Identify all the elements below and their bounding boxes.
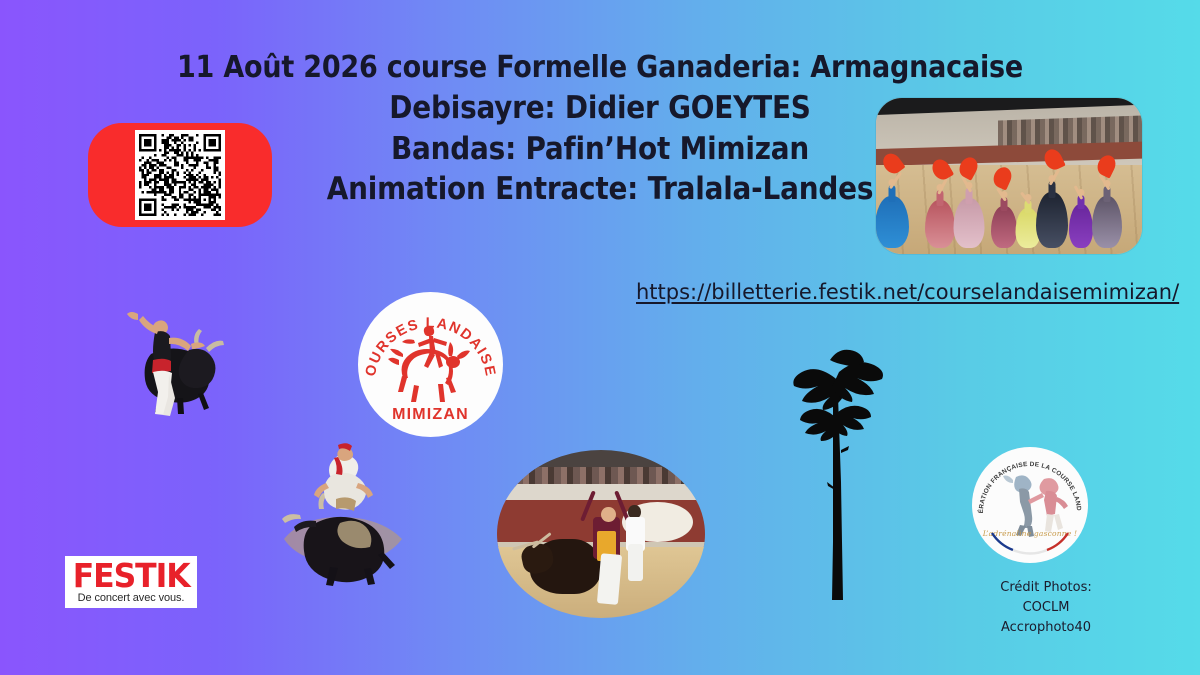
ecarteur-cutout (103, 298, 225, 416)
ecarteur-legs (597, 553, 622, 605)
flamenco-dancers-photo (876, 98, 1142, 254)
festik-logo[interactable]: FESTIK De concert avec vous. (65, 556, 197, 608)
mimizan-bottom-text: MIMIZAN (392, 406, 469, 423)
pine-tree-silhouette (778, 338, 883, 608)
event-poster: 11 Août 2026 course Formelle Ganaderia: … (0, 0, 1200, 675)
sauteur-cutout (278, 443, 410, 586)
photo-credits: Crédit Photos: COCLM Accrophoto40 (985, 578, 1107, 638)
credit-line-3: Accrophoto40 (985, 618, 1107, 638)
ecarteur-arena-photo (497, 450, 705, 618)
credit-line-2: COCLM (985, 598, 1107, 618)
ticketing-url-link[interactable]: https://billetterie.festik.net/courselan… (636, 280, 1179, 304)
qr-code-card[interactable] (88, 123, 272, 227)
federation-logo: FÉDÉRATION FRANÇAISE DE LA COURSE LANDAI… (972, 447, 1088, 563)
festik-wordmark: FESTIK (73, 560, 190, 591)
second-man-legs (628, 544, 643, 581)
mimizan-club-logo: COURSES LANDAISES (358, 292, 503, 437)
credit-line-1: Crédit Photos: (985, 578, 1107, 598)
heading-line-1: 11 Août 2026 course Formelle Ganaderia: … (0, 48, 1200, 88)
qr-code-icon[interactable] (135, 130, 225, 220)
ecarteur-head (601, 507, 616, 522)
